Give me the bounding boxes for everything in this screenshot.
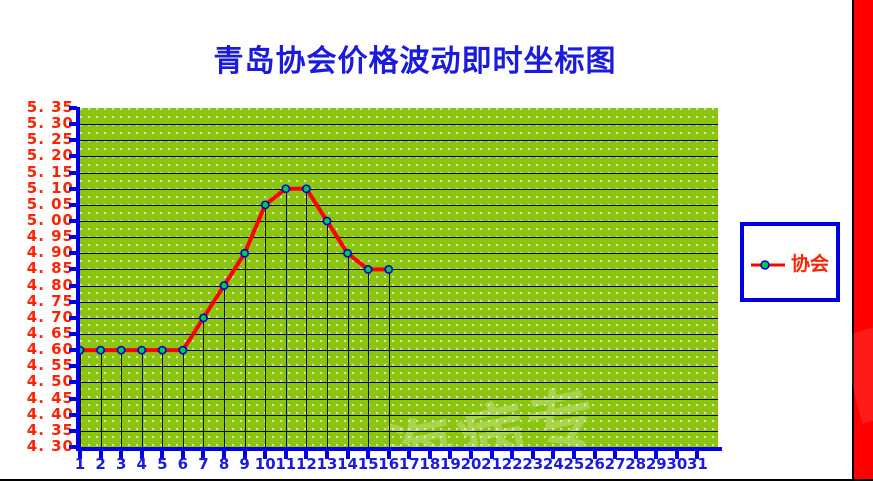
y-axis-tick xyxy=(69,332,77,336)
y-axis-labels: 5. 355. 305. 255. 205. 155. 105. 055. 00… xyxy=(0,108,74,447)
y-axis-tick-label: 4. 60 xyxy=(2,342,74,357)
x-axis-tick-label: 31 xyxy=(682,456,712,473)
y-axis-tick-label: 5. 35 xyxy=(2,100,74,115)
y-axis-tick xyxy=(69,251,77,255)
data-point-marker[interactable] xyxy=(138,347,145,354)
y-axis-tick xyxy=(69,138,77,142)
y-axis-tick xyxy=(69,397,77,401)
y-axis-tick-label: 4. 85 xyxy=(2,261,74,276)
y-axis-tick xyxy=(69,413,77,417)
data-point-marker[interactable] xyxy=(262,201,269,208)
data-point-marker[interactable] xyxy=(200,314,207,321)
data-point-marker[interactable] xyxy=(159,347,166,354)
series-line-chart xyxy=(80,108,718,447)
y-axis-tick-label: 5. 15 xyxy=(2,165,74,180)
data-point-marker[interactable] xyxy=(344,250,351,257)
y-axis-tick xyxy=(69,429,77,433)
y-axis-tick xyxy=(69,122,77,126)
y-axis-tick xyxy=(69,380,77,384)
series-line xyxy=(80,189,389,350)
y-axis-tick-label: 4. 45 xyxy=(2,391,74,406)
y-axis-tick xyxy=(69,445,77,449)
y-axis-tick xyxy=(69,267,77,271)
legend-entry: 协会 xyxy=(744,226,836,298)
data-point-marker[interactable] xyxy=(179,347,186,354)
y-axis-tick xyxy=(69,316,77,320)
y-axis-tick xyxy=(69,235,77,239)
x-axis-line xyxy=(76,447,722,451)
data-point-marker[interactable] xyxy=(241,250,248,257)
y-axis-tick-label: 5. 20 xyxy=(2,148,74,163)
chart-window: 青岛协会价格波动即时坐标图 5. 355. 305. 255. 205. 155… xyxy=(0,0,873,481)
y-axis-tick-label: 5. 30 xyxy=(2,116,74,131)
y-axis-tick xyxy=(69,364,77,368)
y-axis-tick xyxy=(69,284,77,288)
plot-area: 海病专 xyxy=(80,108,718,447)
data-point-marker[interactable] xyxy=(282,185,289,192)
plot-wrapper: 海病专 xyxy=(80,108,718,447)
data-point-marker[interactable] xyxy=(220,282,227,289)
y-axis-tick-label: 4. 35 xyxy=(2,423,74,438)
y-axis-tick xyxy=(69,348,77,352)
y-axis-tick-label: 4. 40 xyxy=(2,407,74,422)
y-axis-tick-label: 4. 65 xyxy=(2,326,74,341)
y-axis-tick-label: 5. 25 xyxy=(2,132,74,147)
data-point-marker[interactable] xyxy=(80,347,84,354)
y-axis-tick xyxy=(69,203,77,207)
y-axis-tick-label: 5. 05 xyxy=(2,197,74,212)
y-axis-tick xyxy=(69,154,77,158)
y-axis-tick-label: 4. 80 xyxy=(2,278,74,293)
right-bar-watermark xyxy=(839,326,873,423)
data-point-marker[interactable] xyxy=(323,217,330,224)
page-title: 青岛协会价格波动即时坐标图 xyxy=(0,36,830,80)
y-axis-tick-label: 4. 75 xyxy=(2,294,74,309)
y-axis-tick-label: 4. 90 xyxy=(2,245,74,260)
y-axis-tick xyxy=(69,219,77,223)
y-axis-tick-label: 5. 10 xyxy=(2,181,74,196)
y-axis-tick xyxy=(69,106,77,110)
data-point-marker[interactable] xyxy=(365,266,372,273)
y-axis-tick-label: 4. 30 xyxy=(2,439,74,454)
y-axis-tick-label: 4. 50 xyxy=(2,374,74,389)
y-axis-tick-label: 4. 95 xyxy=(2,229,74,244)
x-axis-labels: 1234567891011121314151617181920212223242… xyxy=(80,456,726,478)
legend-series-label: 协会 xyxy=(791,249,829,276)
data-point-marker[interactable] xyxy=(385,266,392,273)
y-axis-tick-label: 4. 70 xyxy=(2,310,74,325)
right-red-bar[interactable] xyxy=(852,0,873,479)
legend-box: 协会 xyxy=(740,222,840,302)
legend-line-marker-icon xyxy=(751,256,785,268)
y-axis-tick xyxy=(69,187,77,191)
data-point-marker[interactable] xyxy=(97,347,104,354)
y-axis-tick xyxy=(69,300,77,304)
y-axis-tick xyxy=(69,171,77,175)
y-axis-tick-label: 5. 00 xyxy=(2,213,74,228)
data-point-marker[interactable] xyxy=(118,347,125,354)
data-point-marker[interactable] xyxy=(303,185,310,192)
y-axis-tick-label: 4. 55 xyxy=(2,358,74,373)
